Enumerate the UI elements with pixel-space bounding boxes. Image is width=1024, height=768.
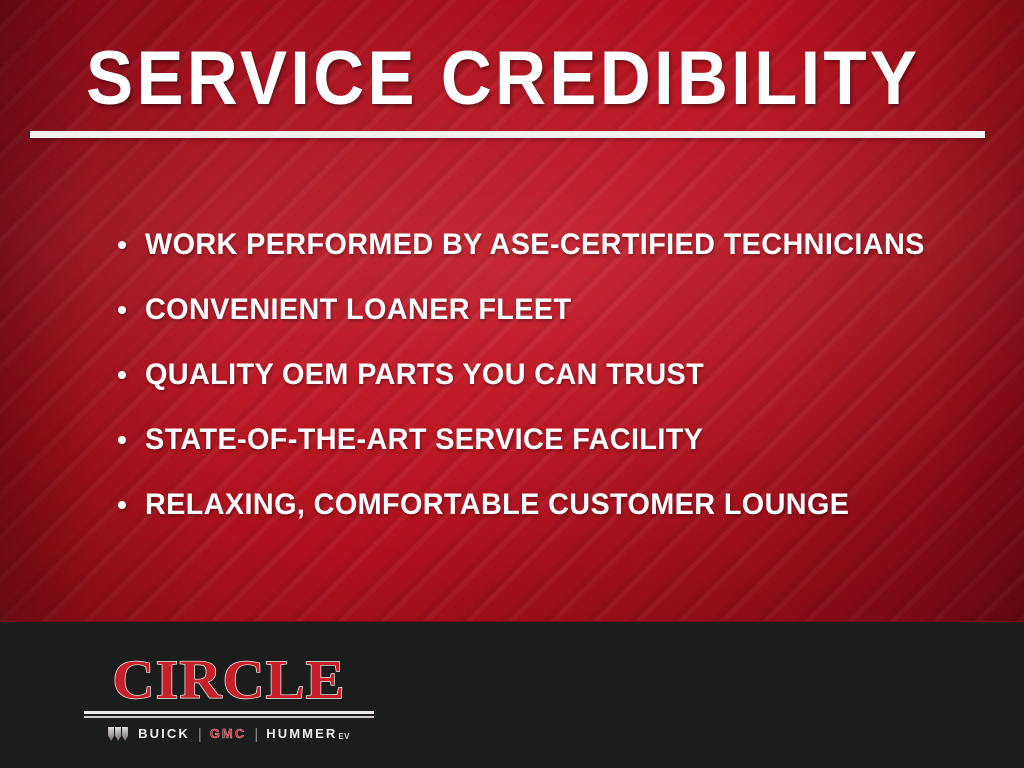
list-item: STATE-OF-THE-ART SERVICE FACILITY bbox=[118, 423, 978, 488]
list-item: WORK PERFORMED BY ASE-CERTIFIED TECHNICI… bbox=[118, 228, 978, 293]
brand-label-hummer-ev-suffix: EV bbox=[338, 732, 349, 741]
list-item-label: CONVENIENT LOANER FLEET bbox=[145, 293, 571, 327]
footer-bar: CIRCLE BUICK | GMC | HUMMER EV bbox=[0, 621, 1024, 768]
dealer-logo-wordmark: CIRCLE bbox=[75, 652, 382, 707]
brand-label-gmc: GMC bbox=[210, 727, 247, 741]
bullet-dot-icon bbox=[118, 501, 126, 509]
logo-underline bbox=[84, 711, 374, 718]
brand-label-hummer-group: HUMMER EV bbox=[266, 727, 350, 741]
service-credibility-slide: SERVICE CREDIBILITY WORK PERFORMED BY AS… bbox=[0, 0, 1024, 768]
bullet-dot-icon bbox=[118, 436, 126, 444]
brand-separator: | bbox=[198, 727, 202, 742]
title-divider bbox=[30, 131, 985, 138]
bullet-dot-icon bbox=[118, 306, 126, 314]
list-item: QUALITY OEM PARTS YOU CAN TRUST bbox=[118, 358, 978, 423]
brand-label-buick: BUICK bbox=[138, 727, 190, 741]
dealer-logo: CIRCLE BUICK | GMC | HUMMER EV bbox=[84, 652, 374, 743]
brand-label-hummer: HUMMER bbox=[266, 727, 337, 741]
list-item-label: STATE-OF-THE-ART SERVICE FACILITY bbox=[145, 423, 703, 457]
list-item: CONVENIENT LOANER FLEET bbox=[118, 293, 978, 358]
buick-trishield-icon bbox=[108, 727, 128, 741]
list-item-label: WORK PERFORMED BY ASE-CERTIFIED TECHNICI… bbox=[145, 228, 925, 262]
list-item: RELAXING, COMFORTABLE CUSTOMER LOUNGE bbox=[118, 488, 978, 553]
credibility-bullet-list: WORK PERFORMED BY ASE-CERTIFIED TECHNICI… bbox=[118, 228, 978, 553]
brand-strip: BUICK | GMC | HUMMER EV bbox=[84, 725, 374, 743]
bullet-dot-icon bbox=[118, 241, 126, 249]
brand-separator: | bbox=[254, 727, 258, 742]
bullet-dot-icon bbox=[118, 371, 126, 379]
list-item-label: QUALITY OEM PARTS YOU CAN TRUST bbox=[145, 358, 704, 392]
list-item-label: RELAXING, COMFORTABLE CUSTOMER LOUNGE bbox=[145, 488, 849, 522]
page-title: SERVICE CREDIBILITY bbox=[86, 38, 923, 120]
